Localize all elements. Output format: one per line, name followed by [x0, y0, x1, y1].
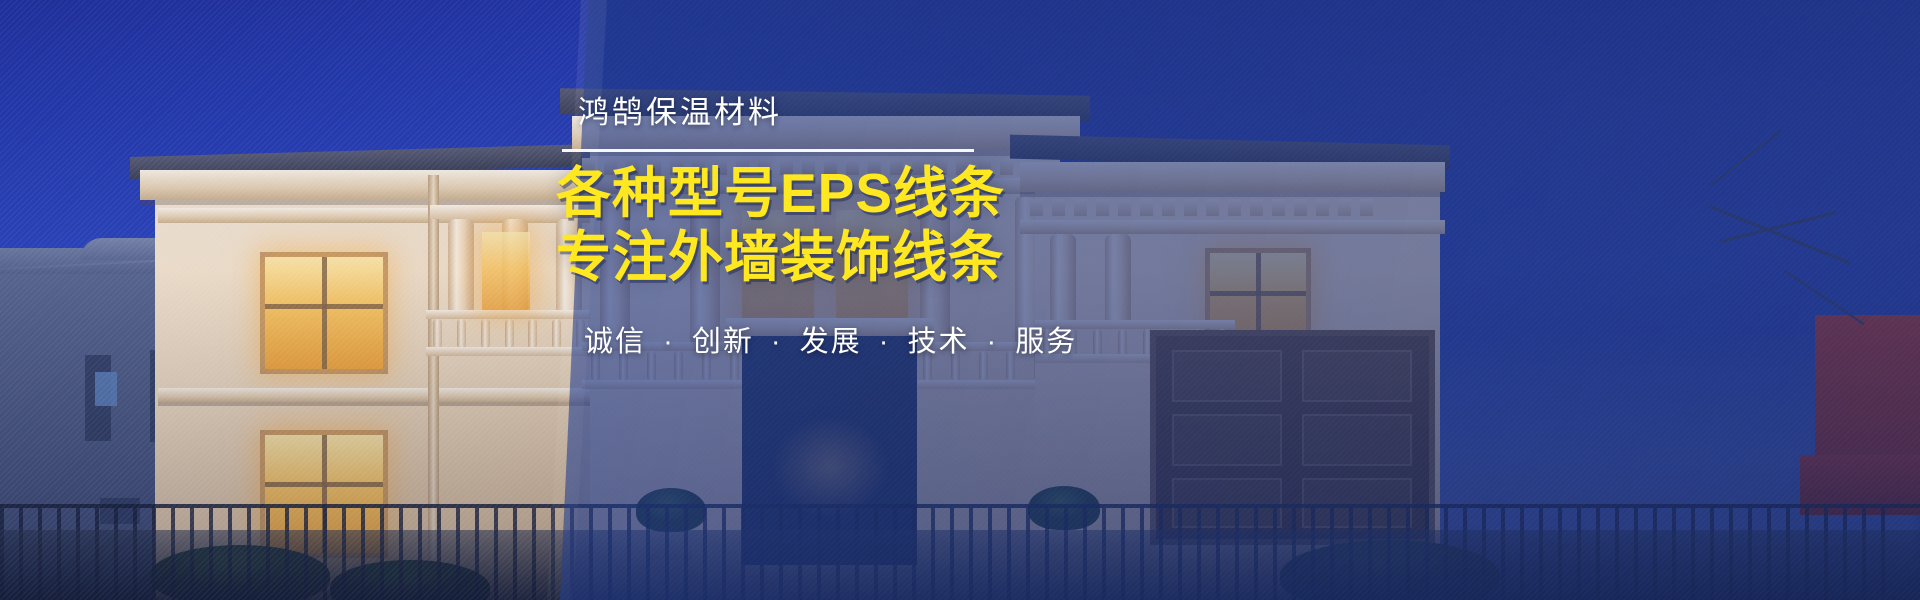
tagline-item-3: 发展 — [800, 326, 862, 358]
banner-text-block: 鸿鹄保温材料 各种型号EPS线条 专注外墙装饰线条 诚信 · 创新 · 发展 ·… — [556, 96, 1076, 360]
brand-name: 鸿鹄保温材料 — [556, 96, 1076, 130]
tagline-separator: · — [764, 326, 790, 358]
banner-stage: 鸿鹄保温材料 各种型号EPS线条 专注外墙装饰线条 诚信 · 创新 · 发展 ·… — [0, 0, 1920, 600]
tagline-separator: · — [980, 326, 1006, 358]
tagline-separator: · — [656, 326, 682, 358]
headline-line-2: 专注外墙装饰线条 — [556, 226, 1076, 290]
tagline-item-5: 服务 — [1015, 326, 1077, 358]
headline-line-1: 各种型号EPS线条 — [556, 162, 1076, 226]
tagline-separator: · — [872, 326, 898, 358]
tagline-item-1: 诚信 — [584, 326, 646, 358]
tagline-item-4: 技术 — [907, 326, 969, 358]
tagline-item-2: 创新 — [692, 326, 754, 358]
divider-rule — [562, 149, 974, 152]
tagline: 诚信 · 创新 · 发展 · 技术 · 服务 — [584, 318, 1076, 360]
